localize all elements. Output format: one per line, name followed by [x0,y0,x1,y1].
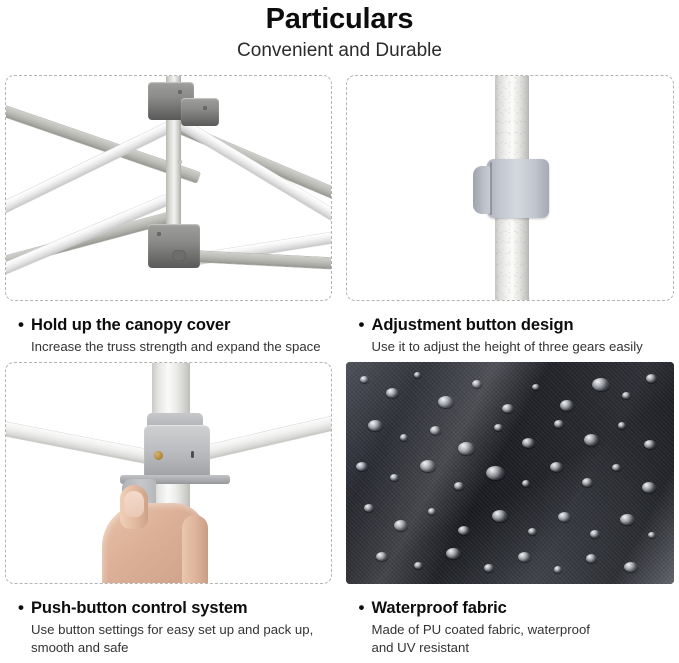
collar-seam [490,162,492,215]
finger [182,515,208,584]
feature-cell-hold-up-canopy-cover: • Hold up the canopy cover Increase the … [0,75,340,356]
fabric-photo [346,362,675,584]
feature-heading: Waterproof fabric [372,598,507,618]
adjustment-button-tab [473,166,491,214]
feature-description: Increase the truss strength and expand t… [31,338,328,356]
feature-cell-adjustment-button-design: • Adjustment button design Use it to adj… [340,75,679,356]
caption-adjustment-button-design: • Adjustment button design Use it to adj… [346,301,675,356]
page-subtitle: Convenient and Durable [0,39,679,63]
feature-heading: Hold up the canopy cover [31,315,230,335]
feature-row-1: • Hold up the canopy cover Increase the … [0,75,679,356]
feature-image-waterproof-fabric [346,362,675,584]
feature-description: Use button settings for easy set up and … [31,621,319,657]
caption-heading-row: • Adjustment button design [359,315,671,335]
bullet-icon: • [18,598,31,618]
hub-screw [154,451,163,460]
thumb-nail [124,491,144,517]
pole-illustration [347,76,674,300]
feature-heading: Adjustment button design [372,315,574,335]
feature-image-truss [5,75,332,301]
lower-joint [148,224,200,268]
caption-heading-row: • Push-button control system [18,598,328,618]
feature-grid: • Hold up the canopy cover Increase the … [0,75,679,657]
caption-push-button-control-system: • Push-button control system Use button … [5,584,332,657]
feature-image-adjustment-button [346,75,675,301]
caption-heading-row: • Hold up the canopy cover [18,315,328,335]
caption-waterproof-fabric: • Waterproof fabric Made of PU coated fa… [346,584,675,657]
upper-joint-side [181,98,219,126]
page-title: Particulars [0,2,679,36]
feature-cell-waterproof-fabric: • Waterproof fabric Made of PU coated fa… [340,362,679,657]
feature-description: Use it to adjust the height of three gea… [372,338,671,356]
product-feature-page: Particulars Convenient and Durable [0,0,679,663]
feature-heading: Push-button control system [31,598,248,618]
bullet-icon: • [359,598,372,618]
hub-pin-hole [191,451,194,458]
feature-row-2: • Push-button control system Use button … [0,362,679,657]
feature-description: Made of PU coated fabric, waterproof and… [372,621,612,657]
adjustment-button-collar [487,159,549,218]
push-button-illustration [6,363,331,583]
caption-hold-up-canopy-cover: • Hold up the canopy cover Increase the … [5,301,332,356]
page-header: Particulars Convenient and Durable [0,0,679,63]
bullet-icon: • [359,315,372,335]
feature-image-push-button [5,362,332,584]
caption-heading-row: • Waterproof fabric [359,598,671,618]
bullet-icon: • [18,315,31,335]
truss-illustration [6,76,331,300]
feature-cell-push-button-control-system: • Push-button control system Use button … [0,362,340,657]
